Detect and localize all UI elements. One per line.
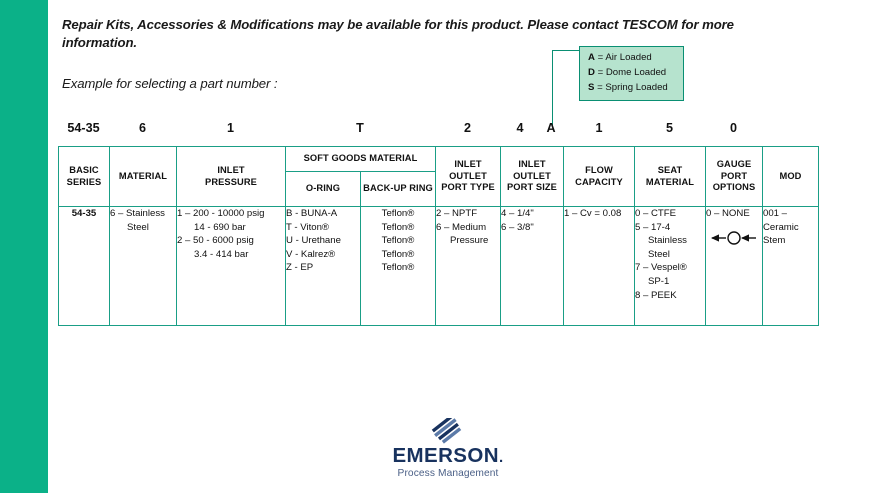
header-line: PORT (721, 171, 747, 181)
option: 0 – NONE (706, 207, 762, 221)
callout-leader-vertical (552, 50, 553, 126)
header-line: INLET (518, 159, 545, 169)
option: 2 – 50 - 6000 psig (177, 234, 285, 248)
callout-row: A = Air Loaded (588, 51, 677, 66)
cell-material: 6 – Stainless Steel (110, 207, 177, 326)
option: Z - EP (286, 261, 360, 275)
part-number-segment-inlet-pressure: 1 (176, 121, 285, 135)
part-number-segment-port-type: 2 (435, 121, 500, 135)
example-label: Example for selecting a part number : (62, 76, 277, 91)
option: 4 – 1/4" (501, 207, 563, 221)
option: 1 – Cv = 0.08 (564, 207, 634, 221)
option: T - Viton® (286, 221, 360, 235)
option: 3.4 - 414 bar (177, 248, 285, 262)
gauge-port-diagram-icon (706, 230, 762, 251)
header-line: FLOW (585, 165, 613, 175)
option: 5 – 17-4 (635, 221, 705, 235)
header-line: SEAT (658, 165, 683, 175)
cell-inlet-outlet-port-type: 2 – NPTF 6 – Medium Pressure (436, 207, 501, 326)
option: 6 – 3/8" (501, 221, 563, 235)
option: V - Kalrez® (286, 248, 360, 262)
cell-back-up-ring: Teflon® Teflon® Teflon® Teflon® Teflon® (361, 207, 436, 326)
option: 001 – (763, 207, 818, 221)
callout-text: Spring Loaded (605, 82, 667, 93)
option: Teflon® (361, 261, 435, 275)
cell-basic-series: 54-35 (59, 207, 110, 326)
callout-sep: = (594, 82, 605, 93)
cell-mod: 001 – Ceramic Stem (763, 207, 819, 326)
header-line: INLET (217, 165, 244, 175)
emerson-mark-icon (431, 418, 465, 444)
part-number-segment-basic-series: 54-35 (58, 121, 109, 135)
header-basic-series: BASIC SERIES (59, 147, 110, 207)
callout-sep: = (595, 52, 605, 63)
header-flow-capacity: FLOW CAPACITY (564, 147, 635, 207)
part-number-segment-material: 6 (109, 121, 176, 135)
cell-o-ring: B - BUNA-A T - Viton® U - Urethane V - K… (286, 207, 361, 326)
option: 54-35 (59, 207, 109, 221)
header-line: GAUGE (717, 159, 752, 169)
header-soft-goods-material: SOFT GOODS MATERIAL (286, 147, 436, 172)
header-seat-material: SEAT MATERIAL (635, 147, 706, 207)
callout-text: Air Loaded (605, 52, 651, 63)
callout-row: S = Spring Loaded (588, 81, 677, 96)
cell-inlet-outlet-port-size: 4 – 1/4" 6 – 3/8" (501, 207, 564, 326)
option: 6 – Medium (436, 221, 500, 235)
option: 6 – Stainless (110, 207, 176, 221)
header-line: MATERIAL (646, 177, 694, 187)
option: Stem (763, 234, 818, 248)
header-line: BASIC (69, 165, 98, 175)
header-inlet-pressure: INLET PRESSURE (177, 147, 286, 207)
loading-type-callout: A = Air Loaded D = Dome Loaded S = Sprin… (579, 46, 684, 101)
callout-row: D = Dome Loaded (588, 66, 677, 81)
part-number-segment-flow-capacity: 1 (564, 121, 634, 135)
header-line: PORT SIZE (507, 182, 557, 192)
header-back-up-ring: BACK-UP RING (361, 172, 436, 207)
header-line: OUTLET (513, 171, 551, 181)
option: 8 – PEEK (635, 289, 705, 303)
option: Steel (110, 221, 176, 235)
cell-flow-capacity: 1 – Cv = 0.08 (564, 207, 635, 326)
example-part-number-row: 54-35 6 1 T 2 4 A 1 5 0 (58, 121, 818, 141)
cell-gauge-port-options: 0 – NONE (706, 207, 763, 326)
table-header-row-top: BASIC SERIES MATERIAL INLET PRESSURE SOF… (59, 147, 819, 172)
part-number-segment-port-size: 4 (500, 121, 540, 135)
header-line: OPTIONS (713, 182, 756, 192)
header-line: SERIES (67, 177, 102, 187)
option: 7 – Vespel® (635, 261, 705, 275)
part-number-segment-seat-material: 5 (634, 121, 705, 135)
header-line: PRESSURE (205, 177, 257, 187)
option: SP-1 (635, 275, 705, 289)
callout-text: Dome Loaded (606, 67, 666, 78)
option: B - BUNA-A (286, 207, 360, 221)
callout-sep: = (595, 67, 606, 78)
header-line: INLET (454, 159, 481, 169)
part-number-matrix-table: BASIC SERIES MATERIAL INLET PRESSURE SOF… (58, 146, 819, 326)
option: Ceramic (763, 221, 818, 235)
option: Teflon® (361, 234, 435, 248)
part-number-segment-gauge-port: 0 (705, 121, 762, 135)
header-material: MATERIAL (110, 147, 177, 207)
cell-seat-material: 0 – CTFE 5 – 17-4 Stainless Steel 7 – Ve… (635, 207, 706, 326)
header-inlet-outlet-port-type: INLET OUTLET PORT TYPE (436, 147, 501, 207)
header-o-ring: O-RING (286, 172, 361, 207)
header-gauge-port-options: GAUGE PORT OPTIONS (706, 147, 763, 207)
option: Teflon® (361, 207, 435, 221)
callout-leader-horizontal (553, 50, 580, 51)
option: 14 - 690 bar (177, 221, 285, 235)
option: Teflon® (361, 248, 435, 262)
option: Steel (635, 248, 705, 262)
cell-inlet-pressure: 1 – 200 - 10000 psig 14 - 690 bar 2 – 50… (177, 207, 286, 326)
option: 0 – CTFE (635, 207, 705, 221)
option: Teflon® (361, 221, 435, 235)
header-line: PORT TYPE (441, 182, 495, 192)
callout-code: A (588, 52, 595, 63)
part-number-segment-soft-goods: T (285, 121, 435, 135)
emerson-wordmark: EMERSON. (0, 445, 896, 467)
option: 1 – 200 - 10000 psig (177, 207, 285, 221)
header-line: OUTLET (449, 171, 487, 181)
emerson-logo: EMERSON. Process Management (0, 418, 896, 479)
emerson-tagline: Process Management (0, 468, 896, 479)
option: Stainless (635, 234, 705, 248)
page-root: Repair Kits, Accessories & Modifications… (0, 0, 896, 493)
emerson-wordmark-dot: . (499, 449, 504, 466)
option: 2 – NPTF (436, 207, 500, 221)
option: U - Urethane (286, 234, 360, 248)
option: Pressure (436, 234, 500, 248)
header-line: CAPACITY (575, 177, 623, 187)
callout-code: D (588, 67, 595, 78)
emerson-wordmark-text: EMERSON (392, 444, 498, 467)
header-inlet-outlet-port-size: INLET OUTLET PORT SIZE (501, 147, 564, 207)
header-mod: MOD (763, 147, 819, 207)
part-number-segment-loading-type: A (538, 121, 564, 135)
table-row: 54-35 6 – Stainless Steel 1 – 200 - 1000… (59, 207, 819, 326)
